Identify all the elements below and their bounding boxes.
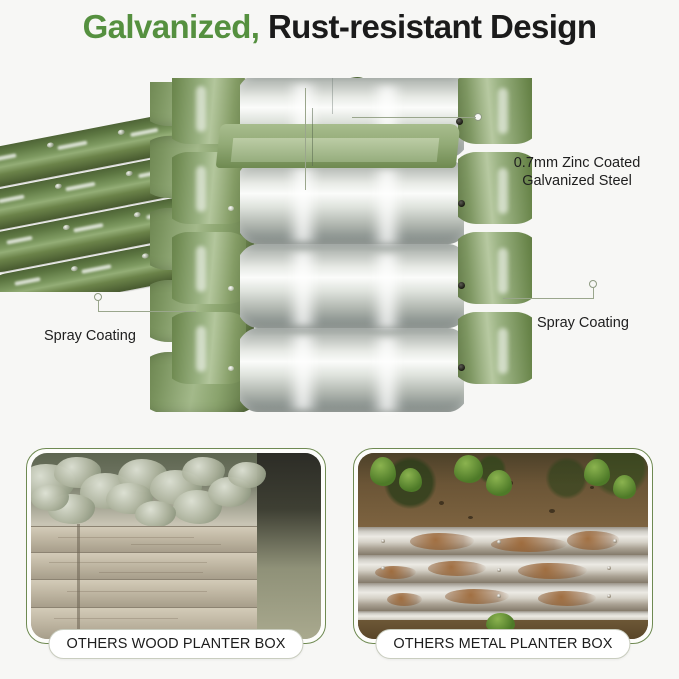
rim-seam [312,108,313,166]
comparison-caption-metal: OTHERS METAL PLANTER BOX [375,629,630,659]
bed-top-rim-inner [231,138,440,162]
spray-coated-right-section [458,78,532,414]
product-illustration: 0.7mm Zinc Coated Galvanized Steel Spray… [0,62,679,430]
screw-icon [456,118,463,125]
callout-spray-left-dot [94,293,102,301]
callout-zinc-steel-label: 0.7mm Zinc Coated Galvanized Steel [492,154,662,190]
metal-planter-photo [358,453,648,639]
screw-icon [458,200,465,207]
callout-spray-right-label: Spray Coating [537,314,629,332]
screw-icon [228,286,234,291]
screw-icon [228,366,234,371]
comparison-card-wood: OTHERS WOOD PLANTER BOX [26,448,326,644]
callout-spray-right-dot [589,280,597,288]
comparison-caption-wood: OTHERS WOOD PLANTER BOX [48,629,303,659]
wood-planter-photo [31,453,321,639]
infographic-page: Galvanized, Rust-resistant Design [0,0,679,679]
rivet-icon [381,539,385,543]
callout-spray-right-line-h [503,298,594,299]
callout-zinc-steel-line [352,117,476,118]
screw-icon [458,282,465,289]
panel-seam-line [305,88,306,190]
comparison-card-metal: OTHERS METAL PLANTER BOX [353,448,653,644]
rivet-icon [613,539,617,543]
callout-spray-left-label: Spray Coating [44,327,136,345]
title-rest: Rust-resistant Design [259,8,596,45]
callout-spray-left-line-h [98,311,196,312]
screw-icon [458,364,465,371]
title-highlight: Galvanized, [83,8,260,45]
page-title: Galvanized, Rust-resistant Design [0,8,679,46]
screw-icon [228,206,234,211]
